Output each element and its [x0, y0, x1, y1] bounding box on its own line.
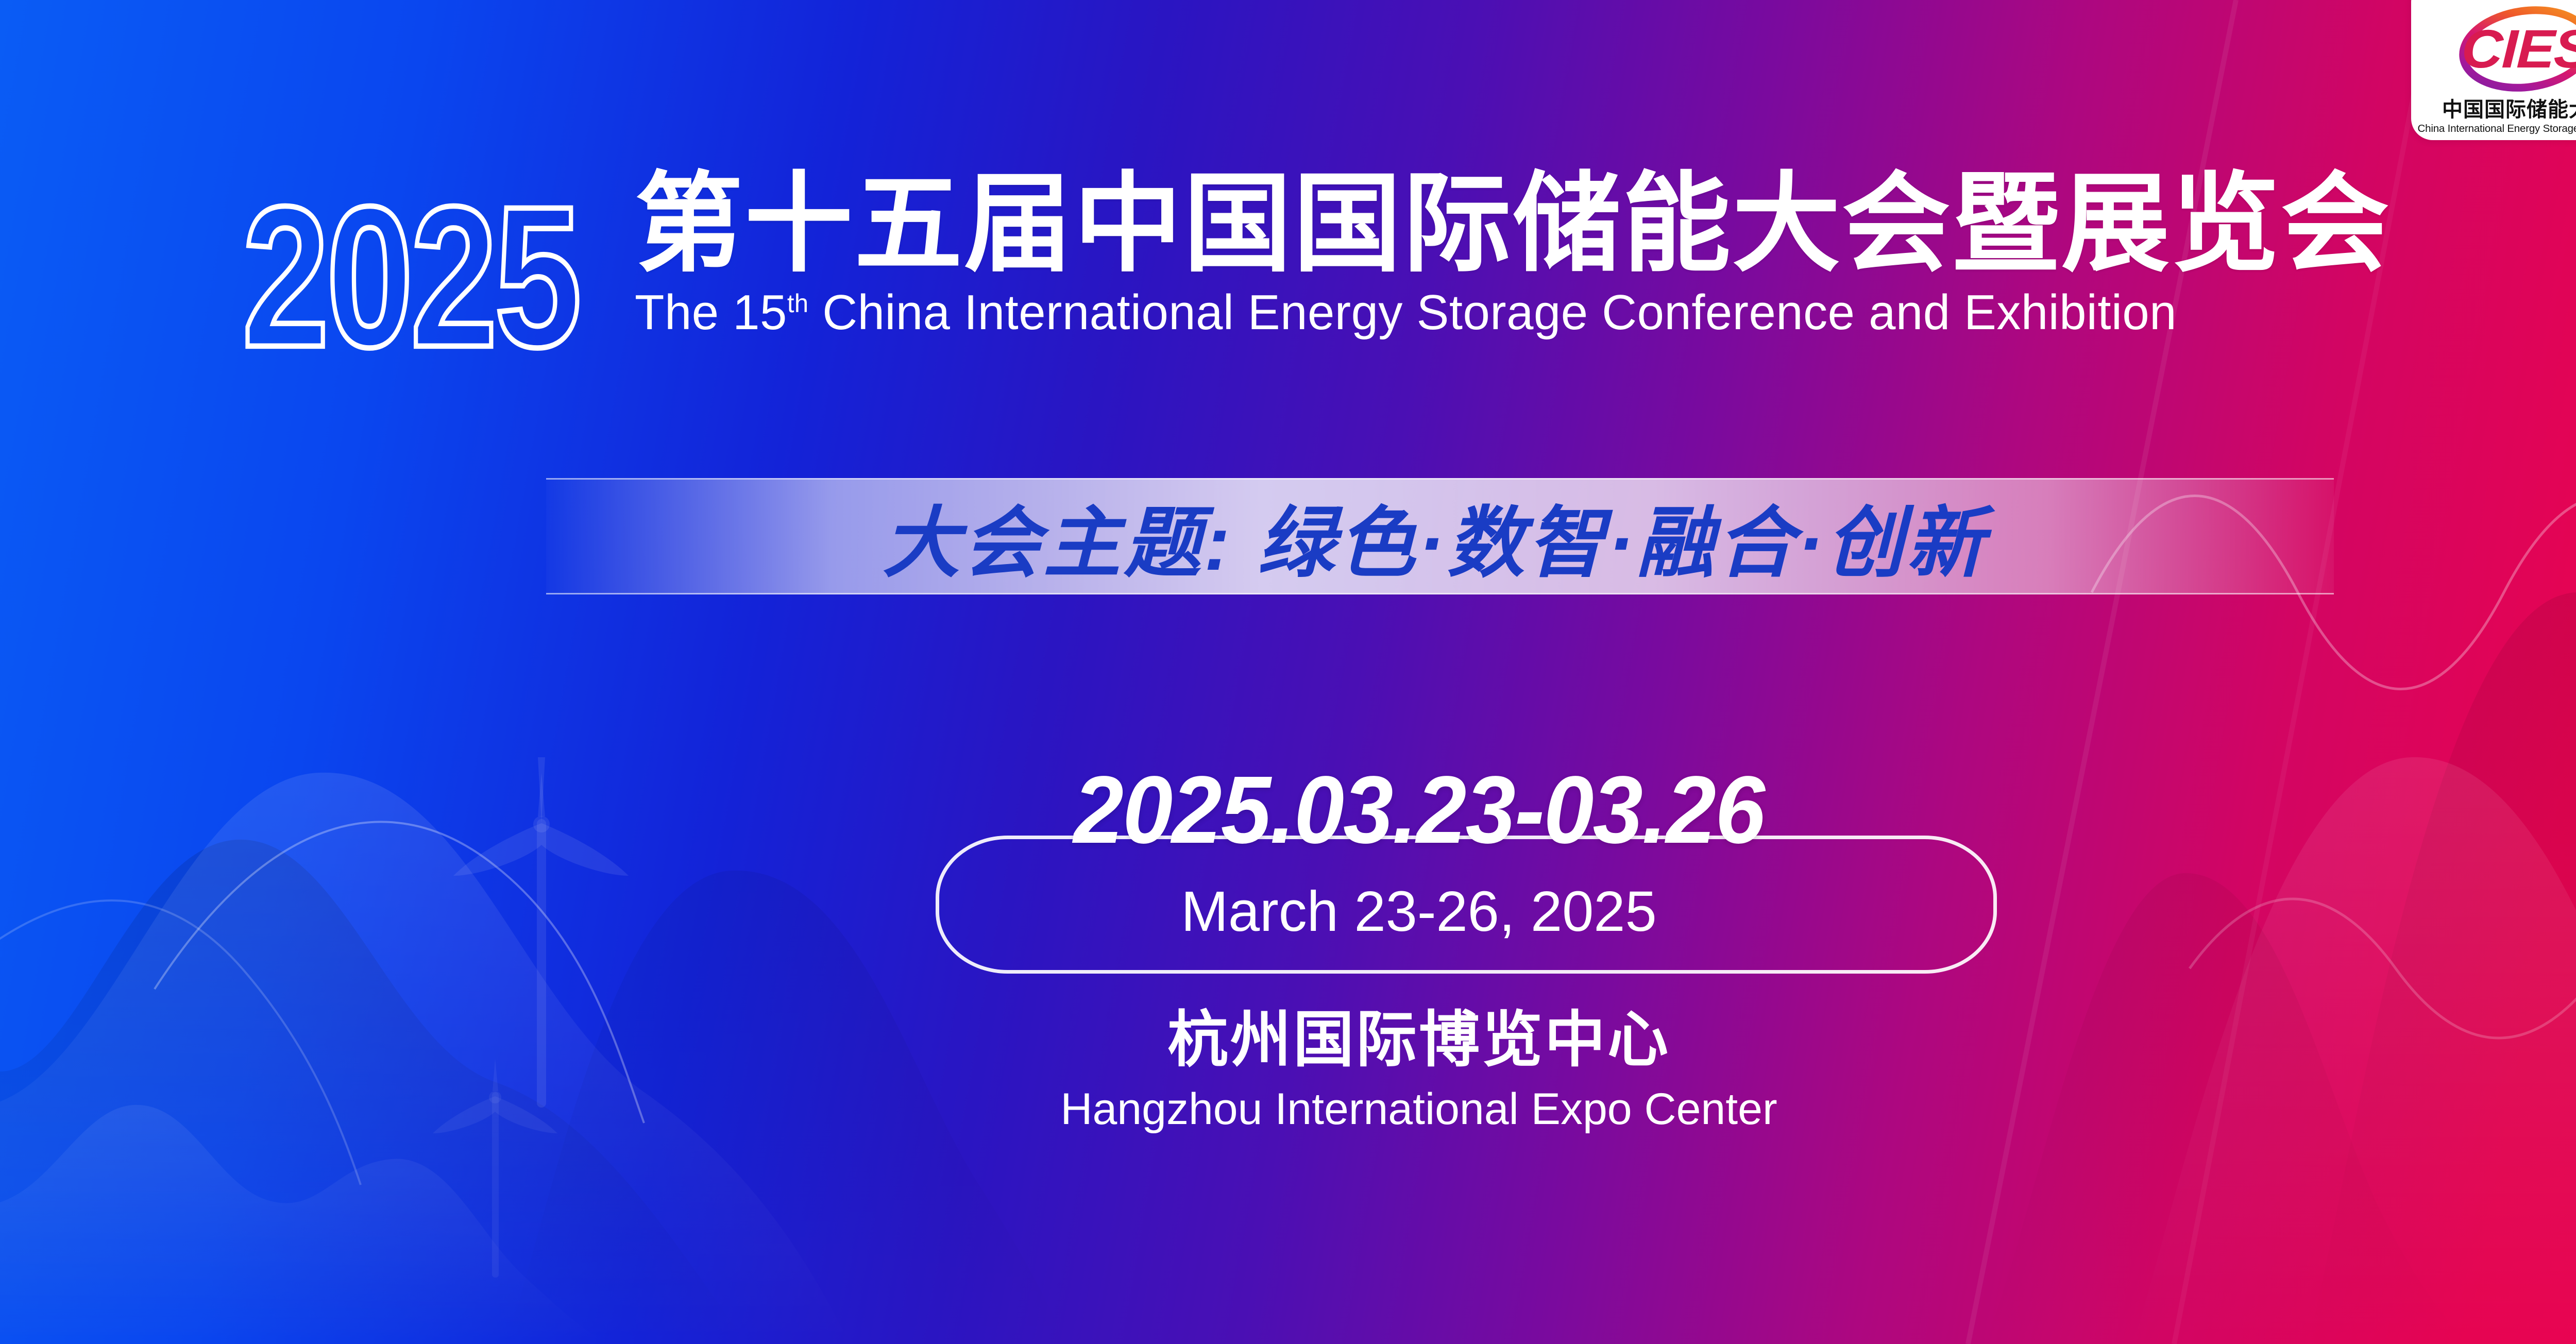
- conference-date-primary: 2025.03.23-03.26: [85, 762, 2576, 858]
- conference-title-cn: 第十五届中国国际储能大会暨展览会: [635, 170, 2391, 278]
- conference-title-en: The 15th China International Energy Stor…: [635, 285, 2355, 340]
- venue-name-cn: 杭州国际博览中心: [0, 1010, 2576, 1070]
- year-outline-mark: 2025: [242, 181, 579, 372]
- left-hill-low: [0, 1105, 608, 1344]
- title-en-ordinal: th: [787, 289, 809, 318]
- title-text-column: 第十五届中国国际储能大会暨展览会 The 15th China Internat…: [635, 170, 2391, 340]
- cies-logo-mark: CIES 中国国际储能大会 China International Energy…: [2411, 0, 2576, 140]
- cies-logo-card[interactable]: CIES 中国国际储能大会 China International Energy…: [2411, 0, 2576, 140]
- cies-org-name-cn: 中国国际储能大会: [2442, 99, 2576, 120]
- conference-date-secondary: March 23-26, 2025: [0, 883, 2576, 940]
- title-en-prefix: The 15: [635, 285, 787, 340]
- cies-acronym: CIES: [2461, 22, 2576, 76]
- title-block: 2025 第十五届中国国际储能大会暨展览会 The 15th China Int…: [242, 170, 2561, 343]
- theme-band: 大会主题: 绿色·数智·融合·创新: [546, 478, 2334, 594]
- venue-name-en: Hangzhou International Expo Center: [0, 1087, 2576, 1131]
- cies-org-name-en: China International Energy Storage Confe…: [2418, 124, 2576, 134]
- title-en-rest: China International Energy Storage Confe…: [809, 285, 2177, 340]
- title-row: 2025 第十五届中国国际储能大会暨展览会 The 15th China Int…: [242, 170, 2561, 343]
- conference-theme: 大会主题: 绿色·数智·融合·创新: [883, 481, 1987, 592]
- conference-banner: 2025 第十五届中国国际储能大会暨展览会 The 15th China Int…: [0, 0, 2576, 1344]
- cies-ring-icon: CIES: [2449, 4, 2576, 94]
- right-mountain-back: [2308, 592, 2576, 1344]
